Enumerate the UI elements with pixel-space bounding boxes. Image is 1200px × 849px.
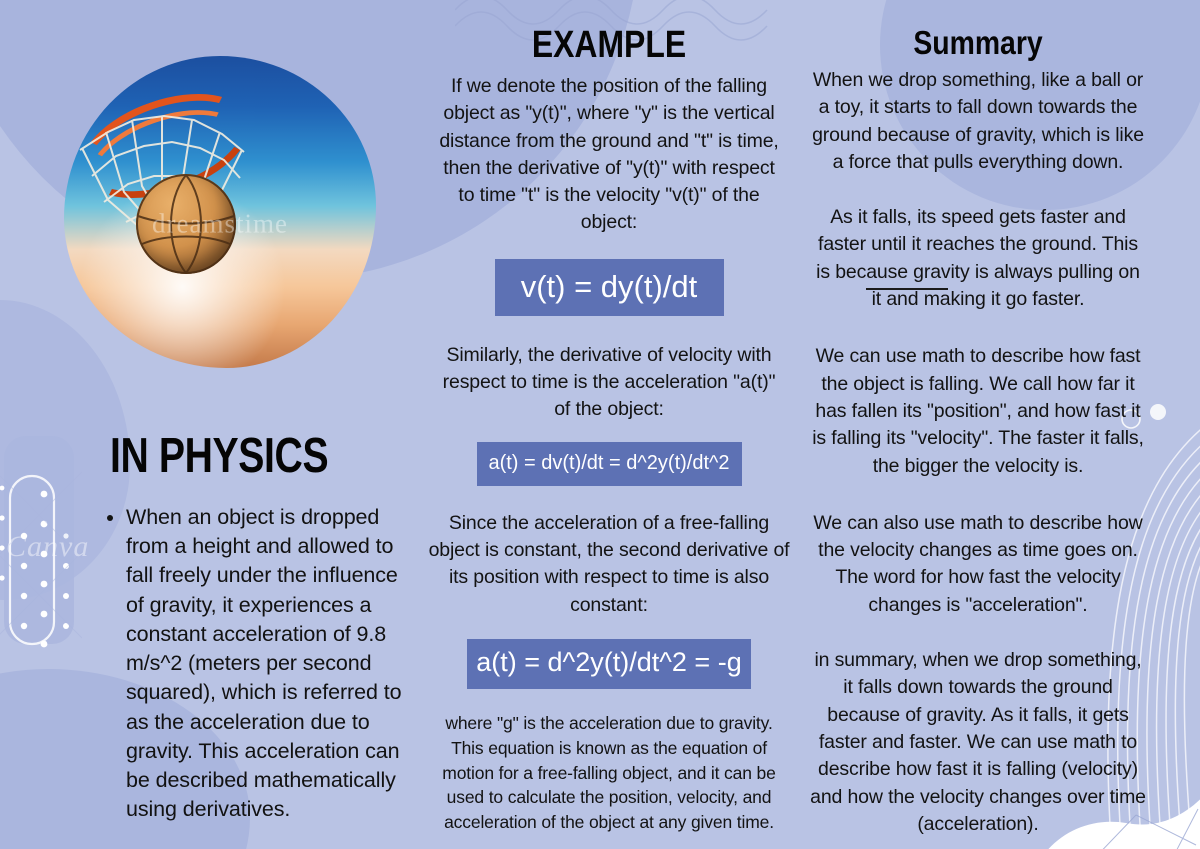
basketball-hoop-photo: dreamstime — [64, 56, 376, 368]
example-paragraph-3: Since the acceleration of a free-falling… — [420, 510, 798, 619]
photo-watermark: dreamstime — [152, 209, 288, 240]
middle-column: EXAMPLE If we denote the position of the… — [420, 26, 798, 835]
stray-underline-mark — [866, 288, 948, 290]
section-title-summary: Summary — [825, 26, 1131, 59]
summary-paragraph-3: We can use math to describe how fast the… — [800, 343, 1156, 479]
example-paragraph-4: where "g" is the acceleration due to gra… — [420, 711, 798, 835]
formula-equation-of-motion: a(t) = d^2y(t)/dt^2 = -g — [467, 639, 751, 689]
example-paragraph-2: Similarly, the derivative of velocity wi… — [420, 342, 798, 424]
page-title-in-physics: IN PHYSICS — [110, 432, 350, 481]
summary-paragraph-5: in summary, when we drop something, it f… — [800, 647, 1156, 838]
formula-acceleration: a(t) = dv(t)/dt = d^2y(t)/dt^2 — [477, 442, 742, 486]
section-title-example: EXAMPLE — [450, 26, 768, 64]
infographic-poster: Canva — [0, 0, 1200, 849]
physics-bullet-list: When an object is dropped from a height … — [100, 503, 418, 825]
formula-velocity: v(t) = dy(t)/dt — [495, 259, 724, 316]
left-column: dreamstime IN PHYSICS When an object is … — [60, 56, 410, 836]
right-column: Summary When we drop something, like a b… — [800, 26, 1156, 838]
summary-paragraph-2: As it falls, its speed gets faster and f… — [800, 204, 1156, 313]
list-item: When an object is dropped from a height … — [126, 503, 418, 825]
summary-paragraph-4: We can also use math to describe how the… — [800, 510, 1156, 619]
example-paragraph-1: If we denote the position of the falling… — [420, 73, 798, 237]
summary-paragraph-1: When we drop something, like a ball or a… — [800, 67, 1156, 176]
